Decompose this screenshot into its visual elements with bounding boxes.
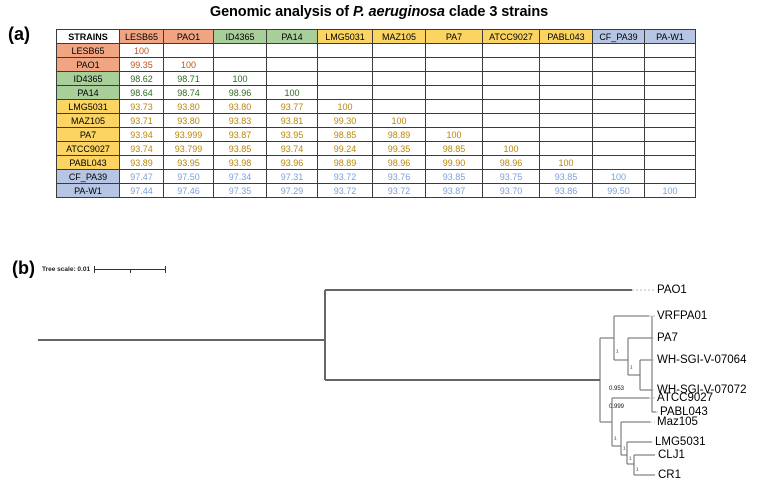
matrix-cell [645, 142, 696, 156]
matrix-cell [483, 44, 540, 58]
matrix-cell: 99.30 [318, 114, 373, 128]
matrix-cell: 98.89 [373, 128, 426, 142]
matrix-cell: 93.74 [120, 142, 164, 156]
matrix-cell [540, 72, 593, 86]
tree-leaf-vrfpa01: VRFPA01 [657, 310, 707, 322]
matrix-cell [483, 100, 540, 114]
matrix-cell: 99.35 [373, 142, 426, 156]
matrix-cell: 93.85 [426, 170, 483, 184]
matrix-col-header-id4365: ID4365 [214, 30, 267, 44]
matrix-cell [373, 72, 426, 86]
title-text-part2: clade 3 strains [445, 4, 548, 20]
identity-matrix-table: STRAINS LESB65PAO1ID4365PA14LMG5031MAZ10… [56, 29, 696, 198]
matrix-row: PA1498.6498.7498.96100 [57, 86, 696, 100]
matrix-cell: 93.72 [373, 184, 426, 198]
matrix-cell [645, 58, 696, 72]
matrix-cell [373, 86, 426, 100]
matrix-col-header-lesb65: LESB65 [120, 30, 164, 44]
matrix-cell: 99.35 [120, 58, 164, 72]
matrix-cell: 97.46 [164, 184, 214, 198]
tree-support-value: 0.999 [609, 404, 624, 410]
tree-leaf-pa7: PA7 [657, 332, 678, 344]
matrix-cell [593, 72, 645, 86]
matrix-cell [593, 156, 645, 170]
matrix-row-header-cf-pa39: CF_PA39 [57, 170, 120, 184]
matrix-cell: 98.85 [318, 128, 373, 142]
matrix-cell: 98.89 [318, 156, 373, 170]
matrix-row-header-lesb65: LESB65 [57, 44, 120, 58]
matrix-cell: 93.77 [267, 100, 318, 114]
matrix-cell: 93.80 [214, 100, 267, 114]
matrix-cell [645, 114, 696, 128]
matrix-cell [214, 58, 267, 72]
phylogenetic-tree-panel: Tree scale: 0.01 [0, 250, 758, 488]
matrix-cell: 98.85 [426, 142, 483, 156]
matrix-cell: 100 [373, 114, 426, 128]
matrix-col-header-maz105: MAZ105 [373, 30, 426, 44]
tree-support-value: 1 [630, 365, 633, 370]
matrix-col-header-pa14: PA14 [267, 30, 318, 44]
matrix-col-header-pa-w1: PA-W1 [645, 30, 696, 44]
matrix-cell: 93.89 [120, 156, 164, 170]
matrix-cell [593, 142, 645, 156]
tree-support-value: 1 [636, 467, 639, 472]
matrix-cell: 93.95 [267, 128, 318, 142]
matrix-row-header-pa-w1: PA-W1 [57, 184, 120, 198]
matrix-cell [540, 114, 593, 128]
matrix-col-header-atcc9027: ATCC9027 [483, 30, 540, 44]
matrix-cell: 100 [318, 100, 373, 114]
matrix-cell [540, 44, 593, 58]
matrix-cell [373, 58, 426, 72]
matrix-row: LESB65100 [57, 44, 696, 58]
matrix-cell: 100 [120, 44, 164, 58]
matrix-cell [540, 58, 593, 72]
matrix-cell [483, 114, 540, 128]
matrix-cell [540, 100, 593, 114]
matrix-row-header-id4365: ID4365 [57, 72, 120, 86]
matrix-cell: 98.96 [483, 156, 540, 170]
matrix-cell: 100 [483, 142, 540, 156]
matrix-cell [318, 86, 373, 100]
matrix-row: PA793.9493.99993.8793.9598.8598.89100 [57, 128, 696, 142]
matrix-cell: 93.83 [214, 114, 267, 128]
matrix-cell [645, 72, 696, 86]
matrix-cell [267, 58, 318, 72]
matrix-cell [645, 86, 696, 100]
matrix-cell: 93.85 [214, 142, 267, 156]
matrix-cell [426, 44, 483, 58]
matrix-cell [645, 156, 696, 170]
matrix-row: ATCC902793.7493.79993.8593.7499.2499.359… [57, 142, 696, 156]
matrix-cell: 98.96 [214, 86, 267, 100]
matrix-cell [164, 44, 214, 58]
matrix-cell: 97.35 [214, 184, 267, 198]
matrix-cell [426, 114, 483, 128]
matrix-cell [593, 44, 645, 58]
tree-leaf-clj1: CLJ1 [658, 449, 685, 461]
matrix-cell [426, 86, 483, 100]
matrix-cell [593, 128, 645, 142]
matrix-cell: 93.72 [318, 184, 373, 198]
matrix-cell: 93.70 [483, 184, 540, 198]
matrix-cell: 100 [593, 170, 645, 184]
matrix-row: MAZ10593.7193.8093.8393.8199.30100 [57, 114, 696, 128]
panel-a-label: (a) [8, 24, 30, 45]
matrix-row: PAO199.35100 [57, 58, 696, 72]
matrix-cell [267, 72, 318, 86]
tree-diagram [0, 250, 758, 488]
matrix-cell: 93.96 [267, 156, 318, 170]
matrix-cell [540, 142, 593, 156]
tree-leaf-wh-sgi-v-07064: WH-SGI-V-07064 [657, 354, 746, 366]
tree-leaf-atcc9027: ATCC9027 [657, 392, 713, 404]
matrix-cell: 100 [540, 156, 593, 170]
matrix-cell: 93.80 [164, 100, 214, 114]
matrix-cell: 100 [214, 72, 267, 86]
matrix-cell [645, 100, 696, 114]
matrix-cell: 93.74 [267, 142, 318, 156]
tree-leaf-cr1: CR1 [658, 469, 681, 481]
matrix-cell: 97.31 [267, 170, 318, 184]
tree-support-value: 0.953 [609, 386, 624, 392]
tree-support-value: 1 [623, 446, 626, 451]
matrix-cell: 93.95 [164, 156, 214, 170]
matrix-cell [214, 44, 267, 58]
matrix-cell: 93.94 [120, 128, 164, 142]
matrix-cell: 97.47 [120, 170, 164, 184]
matrix-row-header-maz105: MAZ105 [57, 114, 120, 128]
matrix-row: PABL04393.8993.9593.9893.9698.8998.9699.… [57, 156, 696, 170]
matrix-cell: 93.71 [120, 114, 164, 128]
matrix-col-header-cf-pa39: CF_PA39 [593, 30, 645, 44]
matrix-cell: 100 [645, 184, 696, 198]
matrix-row-header-pao1: PAO1 [57, 58, 120, 72]
matrix-cell [593, 100, 645, 114]
matrix-cell: 100 [267, 86, 318, 100]
matrix-cell: 93.81 [267, 114, 318, 128]
matrix-cell: 93.799 [164, 142, 214, 156]
matrix-cell: 98.64 [120, 86, 164, 100]
matrix-cell [540, 128, 593, 142]
matrix-cell: 98.96 [373, 156, 426, 170]
matrix-cell: 93.80 [164, 114, 214, 128]
matrix-row: PA-W197.4497.4697.3597.2993.7293.7293.87… [57, 184, 696, 198]
matrix-row-header-pa7: PA7 [57, 128, 120, 142]
matrix-cell [318, 44, 373, 58]
matrix-cell: 93.98 [214, 156, 267, 170]
matrix-corner-header: STRAINS [57, 30, 120, 44]
matrix-cell: 99.90 [426, 156, 483, 170]
matrix-cell [593, 58, 645, 72]
matrix-cell: 100 [426, 128, 483, 142]
matrix-cell [540, 86, 593, 100]
matrix-col-header-pabl043: PABL043 [540, 30, 593, 44]
matrix-cell [483, 128, 540, 142]
matrix-cell [593, 86, 645, 100]
matrix-cell [426, 100, 483, 114]
matrix-row: CF_PA3997.4797.5097.3497.3193.7293.7693.… [57, 170, 696, 184]
matrix-col-header-pa7: PA7 [426, 30, 483, 44]
matrix-cell: 93.87 [426, 184, 483, 198]
matrix-cell: 97.50 [164, 170, 214, 184]
matrix-cell: 97.44 [120, 184, 164, 198]
matrix-cell: 99.50 [593, 184, 645, 198]
matrix-cell [645, 44, 696, 58]
matrix-cell: 93.73 [120, 100, 164, 114]
matrix-row-header-atcc9027: ATCC9027 [57, 142, 120, 156]
matrix-row: LMG503193.7393.8093.8093.77100 [57, 100, 696, 114]
matrix-col-header-pao1: PAO1 [164, 30, 214, 44]
matrix-cell [645, 128, 696, 142]
matrix-cell: 93.75 [483, 170, 540, 184]
title-species-name: P. aeruginosa [353, 4, 445, 20]
matrix-cell [426, 58, 483, 72]
matrix-row-header-lmg5031: LMG5031 [57, 100, 120, 114]
matrix-row-header-pabl043: PABL043 [57, 156, 120, 170]
matrix-cell: 93.85 [540, 170, 593, 184]
matrix-row: ID436598.6298.71100 [57, 72, 696, 86]
matrix-cell [373, 100, 426, 114]
matrix-cell: 97.29 [267, 184, 318, 198]
matrix-cell: 100 [164, 58, 214, 72]
title-text-part1: Genomic analysis of [210, 4, 353, 20]
matrix-cell: 93.999 [164, 128, 214, 142]
tree-support-value: 1 [616, 349, 619, 354]
tree-support-value: 1 [629, 456, 632, 461]
matrix-cell [593, 114, 645, 128]
matrix-cell: 93.87 [214, 128, 267, 142]
tree-leaf-pao1: PAO1 [657, 284, 687, 296]
matrix-body: LESB65100PAO199.35100ID436598.6298.71100… [57, 44, 696, 198]
matrix-cell [267, 44, 318, 58]
page-title: Genomic analysis of P. aeruginosa clade … [0, 4, 758, 20]
matrix-cell [483, 72, 540, 86]
matrix-cell [426, 72, 483, 86]
tree-support-value: 1 [614, 436, 617, 441]
identity-matrix-container: STRAINS LESB65PAO1ID4365PA14LMG5031MAZ10… [56, 29, 696, 198]
matrix-cell: 93.76 [373, 170, 426, 184]
matrix-cell: 93.72 [318, 170, 373, 184]
matrix-cell [318, 72, 373, 86]
matrix-cell [645, 170, 696, 184]
matrix-cell: 98.74 [164, 86, 214, 100]
matrix-cell: 93.86 [540, 184, 593, 198]
matrix-col-header-lmg5031: LMG5031 [318, 30, 373, 44]
matrix-cell [483, 86, 540, 100]
tree-leaf-maz105: Maz105 [657, 416, 698, 428]
matrix-cell: 99.24 [318, 142, 373, 156]
matrix-cell [373, 44, 426, 58]
matrix-cell: 98.71 [164, 72, 214, 86]
matrix-header-row: STRAINS LESB65PAO1ID4365PA14LMG5031MAZ10… [57, 30, 696, 44]
matrix-cell [318, 58, 373, 72]
tree-leaf-lmg5031: LMG5031 [655, 436, 706, 448]
matrix-cell: 97.34 [214, 170, 267, 184]
matrix-cell: 98.62 [120, 72, 164, 86]
matrix-cell [483, 58, 540, 72]
matrix-row-header-pa14: PA14 [57, 86, 120, 100]
